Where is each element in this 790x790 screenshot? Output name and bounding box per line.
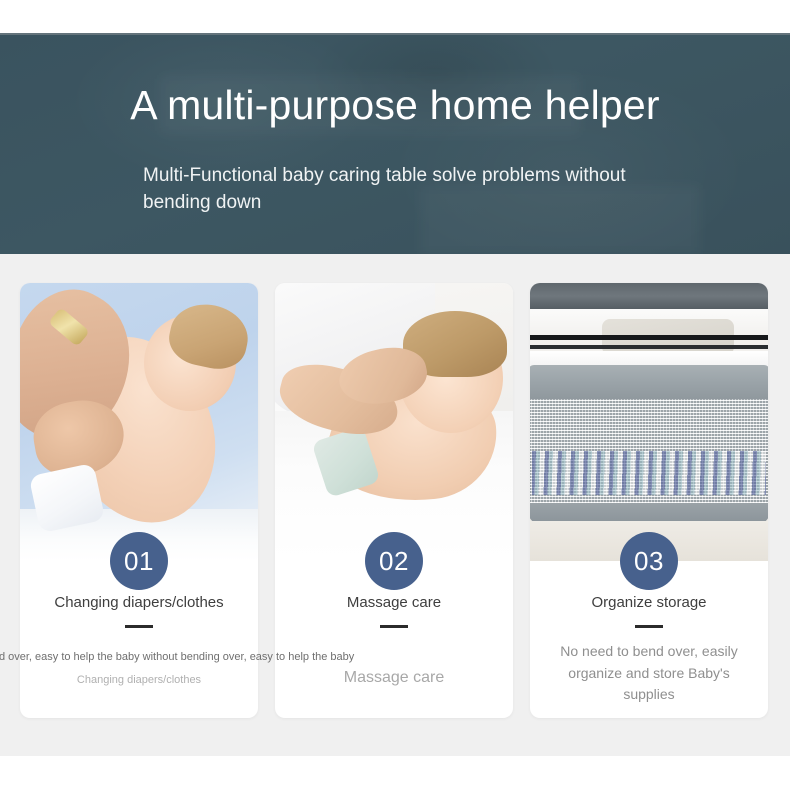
feature-card-01-subtitle: Changing diapers/clothes	[20, 674, 258, 686]
organize-storage-photo	[530, 283, 768, 561]
frame-bar-upper	[530, 335, 768, 340]
feature-card-02-title: Massage care	[275, 595, 513, 612]
hero-banner: A multi-purpose home helper Multi-Functi…	[0, 33, 790, 254]
title-divider	[125, 625, 153, 628]
bottom-white-band	[0, 756, 790, 790]
storage-basket-rim	[530, 365, 768, 401]
massage-care-photo	[275, 283, 513, 561]
feature-card-01-title: Changing diapers/clothes	[20, 595, 258, 612]
title-divider	[380, 625, 408, 628]
changing-diapers-photo	[20, 283, 258, 561]
feature-card-01[interactable]: 01 Changing diapers/clothes No need to b…	[20, 283, 258, 718]
bed-rail-shape	[530, 283, 768, 309]
frame-bar-lower	[530, 345, 768, 349]
hero-title: A multi-purpose home helper	[0, 83, 790, 128]
step-badge-02: 02	[365, 532, 423, 590]
feature-card-03-title: Organize storage	[530, 595, 768, 612]
feature-card-02-subtitle: Massage care	[275, 669, 513, 687]
title-divider	[635, 625, 663, 628]
feature-card-list: 01 Changing diapers/clothes No need to b…	[20, 283, 770, 718]
hero-subtitle: Multi-Functional baby caring table solve…	[143, 163, 643, 217]
top-white-band	[0, 0, 790, 33]
product-feature-page: A multi-purpose home helper Multi-Functi…	[0, 0, 790, 790]
step-badge-01: 01	[110, 532, 168, 590]
feature-card-03[interactable]: 03 Organize storage No need to bend over…	[530, 283, 768, 718]
features-section: 01 Changing diapers/clothes No need to b…	[0, 254, 790, 756]
stored-supplies-shape	[532, 451, 766, 495]
feature-card-03-description: No need to bend over, easily organize an…	[549, 641, 749, 706]
step-badge-03: 03	[620, 532, 678, 590]
feature-card-01-description: No need to bend over, easy to help the b…	[0, 649, 354, 666]
